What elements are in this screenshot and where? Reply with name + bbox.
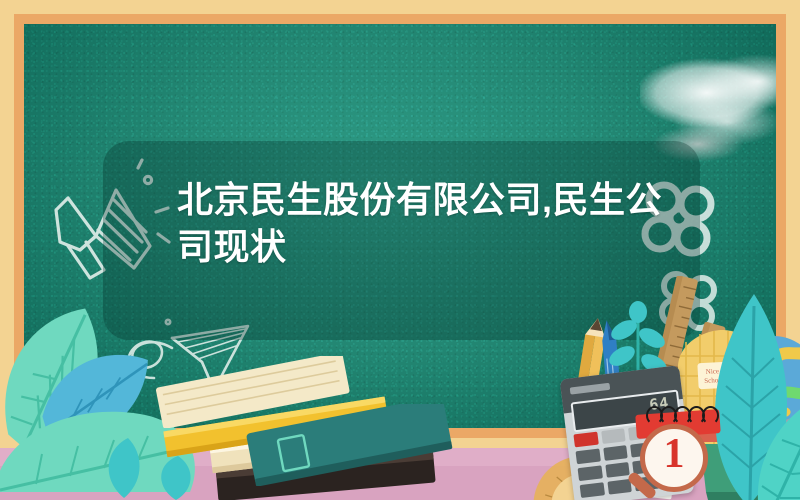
- calculator-key-ac[interactable]: [573, 432, 598, 448]
- banner-stage: 北京民生股份有限公司,民生公司现状: [0, 0, 800, 500]
- calculator-key[interactable]: [605, 462, 630, 478]
- page-title: 北京民生股份有限公司,民生公司现状: [177, 176, 697, 270]
- notebook-spiral-rings: [646, 406, 716, 422]
- magnifier-number: 1: [640, 430, 708, 478]
- calculator-key[interactable]: [603, 445, 628, 461]
- calculator-key[interactable]: [607, 479, 632, 495]
- calculator-key[interactable]: [580, 482, 605, 498]
- calculator-key[interactable]: [601, 428, 626, 444]
- book-teal: [236, 404, 466, 486]
- calculator-key[interactable]: [575, 449, 600, 465]
- magnifying-glass[interactable]: 1: [640, 424, 716, 500]
- leaf-teal-right-lower: [744, 386, 800, 500]
- leaf-teal-small: [94, 436, 154, 500]
- leaf-teal-accent: [148, 454, 204, 500]
- calculator-key[interactable]: [578, 465, 603, 481]
